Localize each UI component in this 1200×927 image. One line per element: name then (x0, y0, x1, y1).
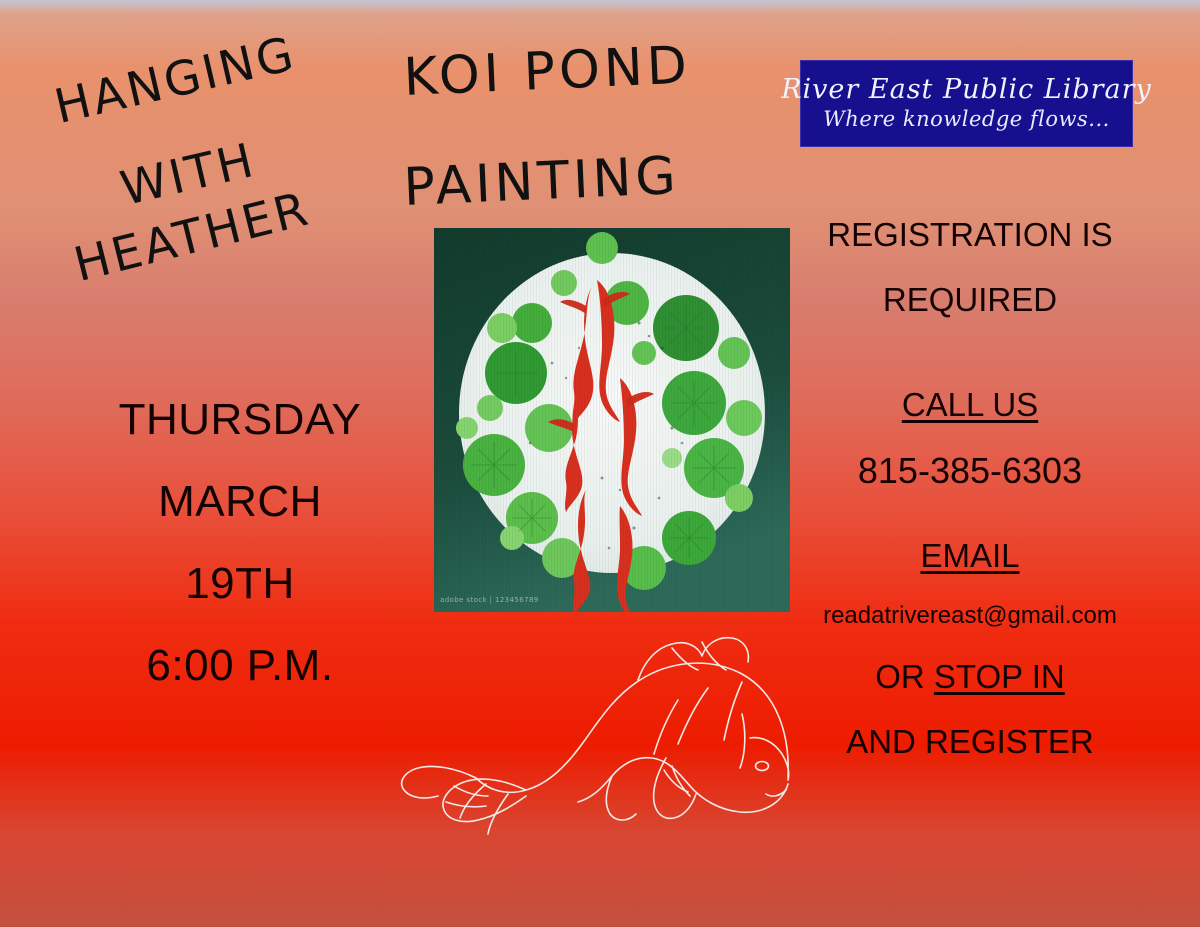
spacer (800, 628, 1140, 660)
event-date: 19TH (60, 562, 420, 606)
and-register-line: AND REGISTER (800, 725, 1140, 758)
event-day: THURSDAY (60, 398, 420, 442)
spacer (800, 572, 1140, 604)
program-title-line1: HANGING (50, 26, 302, 135)
stock-watermark: adobe stock | 123456789 (440, 596, 539, 604)
spacer (800, 316, 1140, 388)
library-logo-name: River East Public Library (781, 76, 1152, 104)
event-time: 6:00 P.M. (60, 644, 420, 688)
stop-in-line: OR STOP IN (800, 660, 1140, 693)
email-label: EMAIL (920, 537, 1019, 574)
call-us-label: CALL US (902, 386, 1038, 423)
email-address[interactable]: readatrivereast@gmail.com (800, 604, 1140, 628)
poster-canvas: HANGING WITH HEATHER KOI POND PAINTING R… (0, 0, 1200, 927)
spacer (800, 251, 1140, 283)
library-logo-tagline: Where knowledge flows... (823, 108, 1110, 131)
registration-info-block: REGISTRATION IS REQUIRED CALL US 815-385… (800, 218, 1140, 758)
koi-painting-illustration (434, 228, 790, 612)
library-logo: River East Public Library Where knowledg… (800, 60, 1133, 147)
call-us-heading: CALL US (800, 388, 1140, 421)
event-date-block: THURSDAY MARCH 19TH 6:00 P.M. (60, 398, 420, 688)
spacer (800, 693, 1140, 725)
spacer (800, 421, 1140, 453)
koi-painting-photo: adobe stock | 123456789 (434, 228, 790, 612)
registration-line1: REGISTRATION IS (800, 218, 1140, 251)
stop-in-prefix: OR (875, 658, 934, 695)
stop-in-emphasis: STOP IN (934, 658, 1065, 695)
koi-line-art (390, 618, 800, 848)
phone-number[interactable]: 815-385-6303 (800, 453, 1140, 489)
event-title-line2: PAINTING (402, 146, 680, 218)
email-heading: EMAIL (800, 539, 1140, 572)
registration-line2: REQUIRED (800, 283, 1140, 316)
koi-outline-icon (390, 618, 800, 848)
event-month: MARCH (60, 480, 420, 524)
spacer (800, 489, 1140, 539)
event-title-line1: KOI POND (402, 36, 692, 108)
